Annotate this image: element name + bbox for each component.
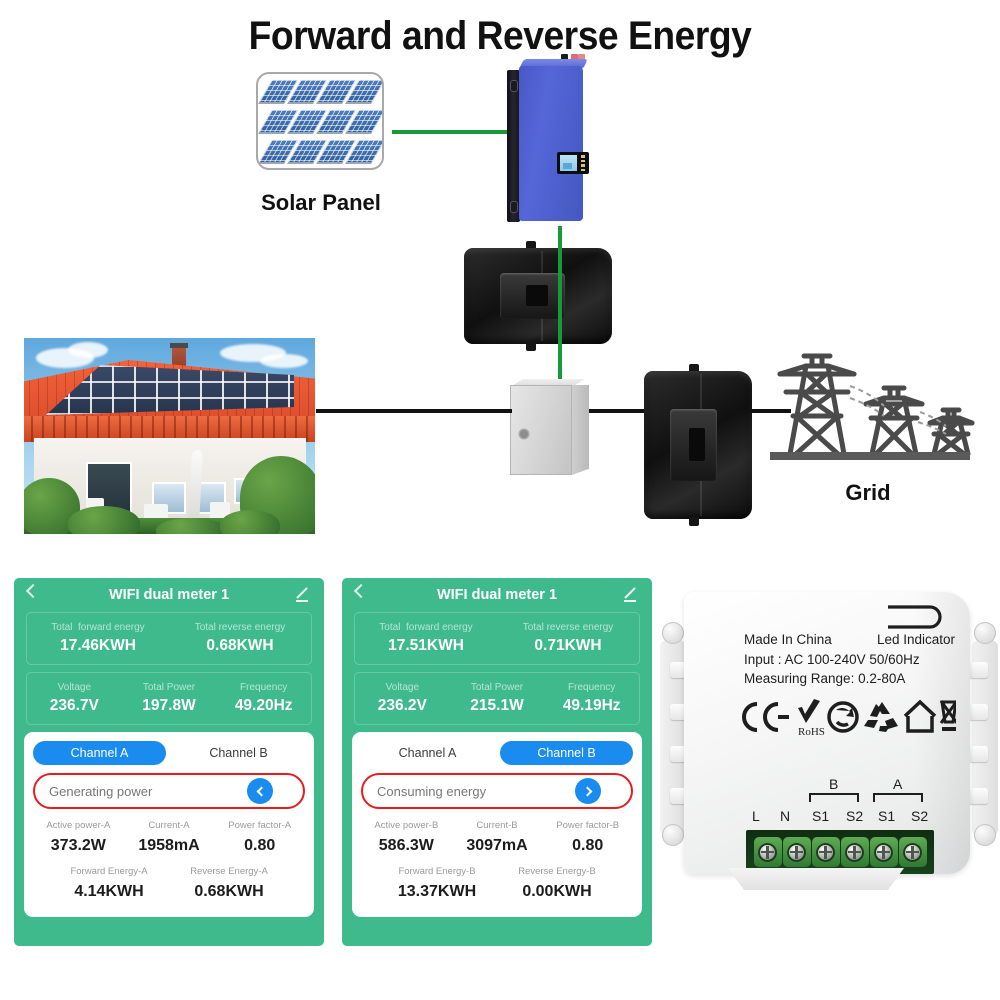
ct-clamp-nub	[689, 517, 699, 526]
metric-label: Frequency	[216, 680, 311, 695]
metric-value: 0.71KWH	[497, 635, 639, 656]
power-factor-metric: Power factor-A 0.80	[214, 818, 305, 858]
metric-value: 4.14KWH	[49, 880, 169, 904]
app-title: WIFI dual meter 1	[109, 587, 229, 603]
device-bottom-bevel	[716, 868, 916, 890]
metric-value: 0.68KWH	[169, 880, 289, 904]
totals-panel: Total forward energy 17.51KWH Total reve…	[354, 612, 640, 665]
device-mount-pad	[974, 824, 996, 846]
device-housing: Led Indicator Made In China Input : AC 1…	[684, 592, 970, 874]
app-header: WIFI dual meter 1	[342, 578, 652, 612]
channel-tabs: Channel A Channel B	[361, 741, 633, 765]
terminal-label-n: N	[780, 808, 790, 824]
channel-tabs: Channel A Channel B	[33, 741, 305, 765]
ct-clamp-body	[644, 371, 752, 519]
metric-label: Reverse Energy-A	[169, 864, 289, 880]
active-power-metric: Active power-B 586.3W	[361, 818, 452, 858]
frequency-reading: Frequency 49.19Hz	[544, 680, 639, 716]
metric-label: Frequency	[544, 680, 639, 695]
terminal-label-a-s1: S1	[878, 808, 895, 824]
frequency-reading: Frequency 49.20Hz	[216, 680, 311, 716]
inverter-front-face	[519, 66, 583, 221]
metric-value: 0.80	[542, 834, 633, 858]
metric-value: 0.80	[214, 834, 305, 858]
metric-label: Total reverse energy	[169, 620, 311, 635]
metric-label: Power factor-A	[214, 818, 305, 834]
voltage-reading: Voltage 236.7V	[27, 680, 122, 716]
metric-label: Total forward energy	[27, 620, 169, 635]
live-readings-panel: Voltage 236.7V Total Power 197.8W Freque…	[26, 672, 312, 725]
terminal-label-b-s2: S2	[846, 808, 863, 824]
channel-energy-row: Forward Energy-A 4.14KWH Reverse Energy-…	[33, 864, 305, 904]
total-reverse-energy: Total reverse energy 0.71KWH	[497, 620, 639, 656]
power-pylon-icon	[760, 336, 976, 466]
green-dot-recycle-icon	[829, 703, 857, 731]
channel-detail-card: Channel A Channel B Consuming energy Act…	[352, 732, 642, 917]
metric-value: 586.3W	[361, 834, 452, 858]
inverter-status-leds	[581, 155, 586, 173]
metric-value: 13.37KWH	[377, 880, 497, 904]
mode-selector-highlighted[interactable]: Generating power	[33, 773, 305, 809]
total-reverse-energy: Total reverse energy 0.68KWH	[169, 620, 311, 656]
spec-line-origin: Made In China	[744, 630, 920, 650]
tab-channel-a[interactable]: Channel A	[33, 741, 166, 765]
current-transformer-clamp-icon	[644, 371, 752, 519]
reverse-energy-metric: Reverse Energy-A 0.68KWH	[169, 864, 289, 904]
device-spec-block: Made In China Input : AC 100-240V 50/60H…	[744, 630, 920, 689]
ac-wire-box-to-ct	[589, 409, 649, 413]
metric-label: Current-B	[452, 818, 543, 834]
distribution-box-door	[510, 385, 572, 475]
pencil-edit-icon[interactable]	[622, 586, 640, 604]
device-clip-tab	[968, 788, 988, 804]
app-title: WIFI dual meter 1	[437, 587, 557, 603]
channel-detail-card: Channel A Channel B Generating power Act…	[24, 732, 314, 917]
metric-label: Active power-A	[33, 818, 124, 834]
poster-root: Forward and Reverse Energy Solar Panel	[0, 0, 1000, 1000]
grid-tie-inverter-icon	[505, 66, 583, 228]
pv-module-row	[263, 140, 383, 166]
ct-clamp-body	[464, 248, 612, 344]
mode-label: Consuming energy	[377, 784, 575, 799]
inverter-lcd-display	[557, 152, 589, 174]
total-power-reading: Total Power 197.8W	[122, 680, 217, 716]
device-clip-tab	[968, 662, 988, 678]
voltage-reading: Voltage 236.2V	[355, 680, 450, 716]
inverter-lcd-screen	[560, 155, 577, 171]
screw-terminal[interactable]	[870, 837, 898, 867]
distribution-box-lock	[520, 430, 528, 438]
terminal-labels: B A L N S1 S2 S1 S2	[736, 782, 954, 830]
grid-label: Grid	[760, 480, 976, 506]
totals-panel: Total forward energy 17.46KWH Total reve…	[26, 612, 312, 665]
metric-value: 373.2W	[33, 834, 124, 858]
reverse-energy-metric: Reverse Energy-B 0.00KWH	[497, 864, 617, 904]
ce-mark-icon	[744, 704, 789, 730]
screw-terminal[interactable]	[899, 837, 927, 867]
metric-value: 215.1W	[450, 695, 545, 716]
solar-panel-label: Solar Panel	[196, 190, 446, 216]
current-metric: Current-B 3097mA	[452, 818, 543, 858]
total-forward-energy: Total forward energy 17.51KWH	[355, 620, 497, 656]
chevron-left-circle-icon[interactable]	[247, 778, 273, 804]
device-clip-tab	[968, 746, 988, 762]
app-screen-channel-b: WIFI dual meter 1 Total forward energy 1…	[342, 578, 652, 946]
screw-terminal[interactable]	[754, 837, 782, 867]
certification-marks-row: RoHS	[742, 696, 956, 738]
channel-metrics-row: Active power-B 586.3W Current-B 3097mA P…	[361, 818, 633, 858]
metric-label: Forward Energy-A	[49, 864, 169, 880]
metric-value: 0.00KWH	[497, 880, 617, 904]
inverter-mount-clip	[510, 201, 518, 213]
screw-terminal[interactable]	[841, 837, 869, 867]
mobius-recycle-icon	[864, 702, 898, 732]
tab-channel-b[interactable]: Channel B	[500, 741, 633, 765]
house-with-solar-roof-photo	[24, 338, 315, 534]
metric-value: 236.2V	[355, 695, 450, 716]
terminal-group-label-b: B	[829, 776, 838, 792]
metric-label: Active power-B	[361, 818, 452, 834]
mode-label: Generating power	[49, 784, 247, 799]
current-transformer-clamp-icon	[464, 248, 612, 344]
metric-label: Power factor-B	[542, 818, 633, 834]
channel-energy-row: Forward Energy-B 13.37KWH Reverse Energy…	[361, 864, 633, 904]
active-power-metric: Active power-A 373.2W	[33, 818, 124, 858]
metric-label: Voltage	[27, 680, 122, 695]
total-forward-energy: Total forward energy 17.46KWH	[27, 620, 169, 656]
metric-label: Reverse Energy-B	[497, 864, 617, 880]
led-indicator-hole-icon	[886, 601, 962, 633]
screw-terminal[interactable]	[783, 837, 811, 867]
spec-line-range: Measuring Range: 0.2-80A	[744, 669, 920, 689]
svg-text:RoHS: RoHS	[798, 726, 825, 738]
device-mount-pad	[662, 622, 684, 644]
system-diagram: Solar Panel	[0, 0, 1000, 560]
terminal-label-l: L	[752, 808, 760, 824]
terminal-label-b-s1: S1	[812, 808, 829, 824]
spec-line-input: Input : AC 100-240V 50/60Hz	[744, 650, 920, 670]
metric-value: 3097mA	[452, 834, 543, 858]
device-mount-pad	[974, 622, 996, 644]
forward-energy-metric: Forward Energy-A 4.14KWH	[49, 864, 169, 904]
solar-panel-icon	[256, 72, 384, 170]
metric-value: 236.7V	[27, 695, 122, 716]
weee-crossed-bin-icon	[941, 701, 956, 731]
mode-selector-highlighted[interactable]: Consuming energy	[361, 773, 633, 809]
channel-metrics-row: Active power-A 373.2W Current-A 1958mA P…	[33, 818, 305, 858]
metric-value: 17.51KWH	[355, 635, 497, 656]
dc-wire-through-ct	[558, 248, 562, 344]
metric-value: 49.20Hz	[216, 695, 311, 716]
metric-label: Total forward energy	[355, 620, 497, 635]
power-factor-metric: Power factor-B 0.80	[542, 818, 633, 858]
current-metric: Current-A 1958mA	[124, 818, 215, 858]
pv-module-row	[263, 110, 383, 136]
distribution-box-icon	[510, 379, 590, 475]
app-header: WIFI dual meter 1	[14, 578, 324, 612]
metric-label: Total reverse energy	[497, 620, 639, 635]
metric-label: Total Power	[122, 680, 217, 695]
forward-energy-metric: Forward Energy-B 13.37KWH	[377, 864, 497, 904]
distribution-box-side	[572, 385, 589, 475]
ct-clamp-nub	[526, 342, 536, 351]
metric-value: 0.68KWH	[169, 635, 311, 656]
metric-label: Voltage	[355, 680, 450, 695]
screw-terminal[interactable]	[812, 837, 840, 867]
device-mount-pad	[662, 824, 684, 846]
metric-value: 197.8W	[122, 695, 217, 716]
dc-wire-ct-to-box	[558, 344, 562, 382]
ct-clamp-latch	[500, 273, 565, 319]
wifi-dual-meter-device-photo: Led Indicator Made In China Input : AC 1…	[660, 588, 998, 918]
ac-wire-house-to-box	[316, 409, 512, 413]
tab-channel-a[interactable]: Channel A	[361, 741, 494, 765]
chevron-left-icon[interactable]	[26, 584, 40, 598]
screw-terminal-block[interactable]	[746, 830, 934, 874]
tab-channel-b[interactable]: Channel B	[172, 741, 305, 765]
chevron-right-circle-icon[interactable]	[575, 778, 601, 804]
live-readings-panel: Voltage 236.2V Total Power 215.1W Freque…	[354, 672, 640, 725]
total-power-reading: Total Power 215.1W	[450, 680, 545, 716]
dc-wire-solar-to-inverter	[392, 130, 512, 134]
metric-value: 17.46KWH	[27, 635, 169, 656]
app-screen-channel-a: WIFI dual meter 1 Total forward energy 1…	[14, 578, 324, 946]
metric-label: Total Power	[450, 680, 545, 695]
rohs-check-icon: RoHS	[798, 699, 825, 738]
terminal-label-a-s2: S2	[911, 808, 928, 824]
pv-module-row	[263, 80, 383, 106]
metric-value: 49.19Hz	[544, 695, 639, 716]
pencil-edit-icon[interactable]	[294, 586, 312, 604]
inverter-mount-clip	[510, 80, 518, 92]
metric-label: Forward Energy-B	[377, 864, 497, 880]
terminal-group-label-a: A	[893, 776, 902, 792]
chevron-left-icon[interactable]	[354, 584, 368, 598]
ct-clamp-latch	[670, 409, 718, 480]
metric-value: 1958mA	[124, 834, 215, 858]
metric-label: Current-A	[124, 818, 215, 834]
device-clip-tab	[968, 704, 988, 720]
indoor-use-house-icon	[905, 702, 935, 731]
